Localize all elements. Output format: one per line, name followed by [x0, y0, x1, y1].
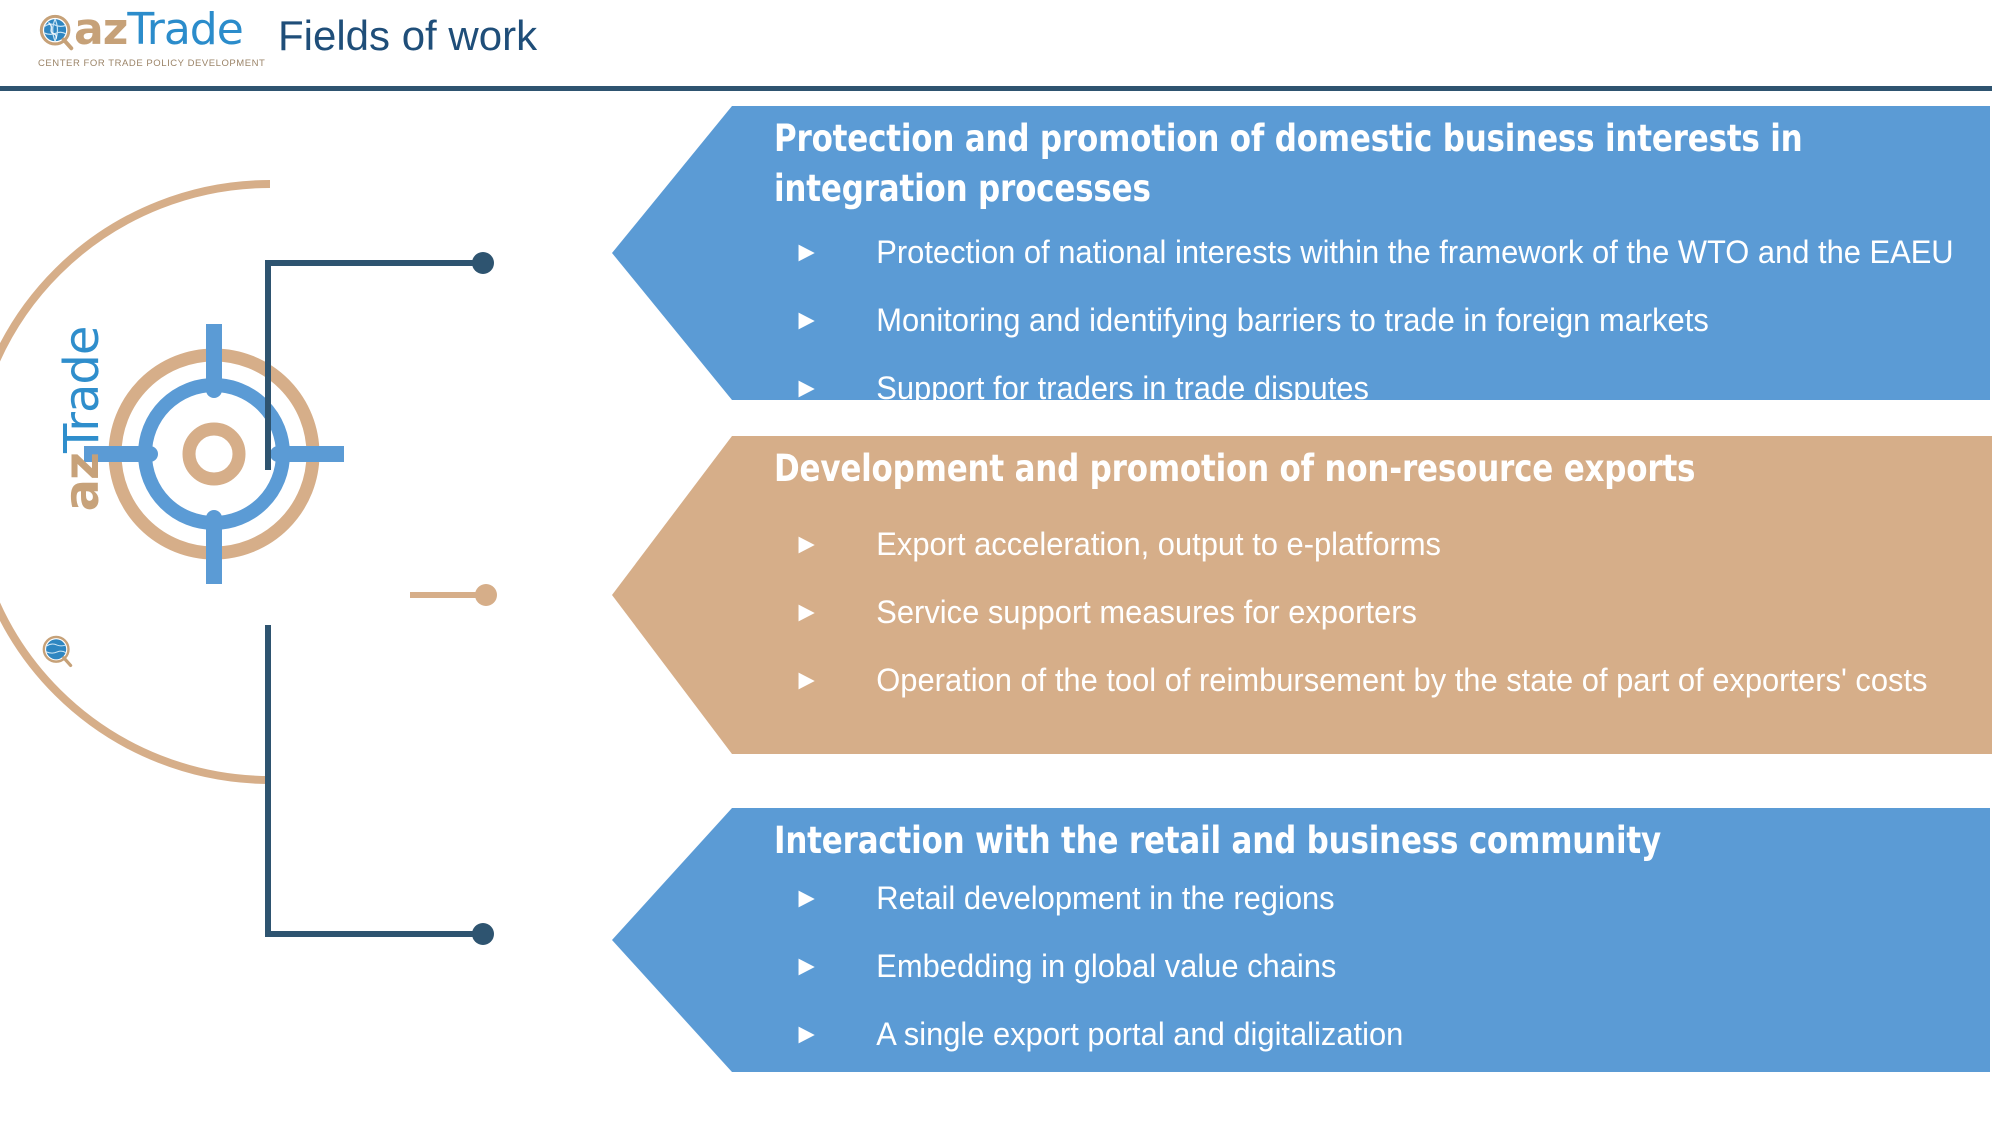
bullet-marker-icon: ► [793, 354, 820, 422]
watermark-globe-icon [40, 634, 74, 668]
watermark-text-az: az [54, 453, 110, 511]
bullet-marker-icon: ► [793, 646, 820, 714]
bullet-text: Support for traders in trade disputes [876, 354, 1369, 422]
banner-protection-bullets: ► Protection of national interests withi… [774, 218, 1980, 422]
banner-exports-title: Development and promotion of non-resourc… [774, 444, 1886, 494]
list-item[interactable]: ► Monitoring and identifying barriers to… [774, 286, 1938, 354]
bullet-text: Protection of national interests within … [876, 218, 1953, 286]
bullet-marker-icon: ► [793, 218, 820, 286]
header-divider [0, 86, 1992, 91]
left-decorative-graphic: azTrade [0, 92, 480, 1125]
bullet-text: Embedding in global value chains [876, 932, 1336, 1000]
page-title: Fields of work [278, 12, 537, 60]
bullet-marker-icon: ► [793, 578, 820, 646]
connector-banner-3-vertical [265, 625, 271, 937]
banner-protection[interactable]: Protection and promotion of domestic bus… [612, 106, 1990, 400]
logo-text-trade: Trade [127, 4, 242, 55]
banner-retail-title: Interaction with the retail and business… [774, 816, 1884, 866]
connector-dot-banner-1 [472, 252, 494, 274]
bullet-marker-icon: ► [793, 510, 820, 578]
banner-retail-bullets: ► Retail development in the regions ► Em… [774, 864, 1980, 1068]
rotated-watermark-logo: azTrade [54, 318, 110, 578]
watermark-text-trade: Trade [54, 327, 110, 453]
bullet-text: A single export portal and digitalizatio… [876, 1000, 1403, 1068]
list-item[interactable]: ► Operation of the tool of reimbursement… [774, 646, 1940, 714]
connector-dot-banner-2 [475, 584, 497, 606]
connector-banner-1-vertical [265, 260, 271, 470]
qaztrade-logo: azTrade CENTER FOR TRADE POLICY DEVELOPM… [18, 6, 248, 78]
bullet-text: Operation of the tool of reimbursement b… [876, 646, 1927, 714]
bullet-text: Export acceleration, output to e-platfor… [876, 510, 1441, 578]
banner-retail[interactable]: Interaction with the retail and business… [612, 808, 1990, 1072]
bullet-text: Retail development in the regions [876, 864, 1334, 932]
bullet-marker-icon: ► [793, 1000, 820, 1068]
globe-magnifier-icon [38, 14, 76, 52]
page-header: azTrade CENTER FOR TRADE POLICY DEVELOPM… [0, 0, 2000, 92]
bullet-text: Monitoring and identifying barriers to t… [876, 286, 1708, 354]
list-item[interactable]: ► Embedding in global value chains [774, 932, 1938, 1000]
logo-tagline: CENTER FOR TRADE POLICY DEVELOPMENT [38, 58, 250, 69]
bullet-marker-icon: ► [793, 286, 820, 354]
banner-exports[interactable]: Development and promotion of non-resourc… [612, 436, 1992, 754]
connector-banner-3-horizontal [265, 931, 485, 937]
crosshair-target-icon [84, 324, 344, 584]
list-item[interactable]: ► Protection of national interests withi… [774, 218, 1938, 286]
banner-protection-title: Protection and promotion of domestic bus… [774, 114, 1884, 214]
banner-exports-bullets: ► Export acceleration, output to e-platf… [774, 510, 1982, 714]
bullet-text: Service support measures for exporters [876, 578, 1417, 646]
list-item[interactable]: ► Retail development in the regions [774, 864, 1938, 932]
logo-text-az: az [74, 4, 127, 55]
bullet-marker-icon: ► [793, 864, 820, 932]
list-item[interactable]: ► Service support measures for exporters [774, 578, 1940, 646]
bullet-marker-icon: ► [793, 932, 820, 1000]
list-item[interactable]: ► Export acceleration, output to e-platf… [774, 510, 1940, 578]
connector-dot-banner-3 [472, 923, 494, 945]
list-item[interactable]: ► Support for traders in trade disputes [774, 354, 1938, 422]
list-item[interactable]: ► A single export portal and digitalizat… [774, 1000, 1938, 1068]
connector-banner-1-horizontal [265, 260, 485, 266]
